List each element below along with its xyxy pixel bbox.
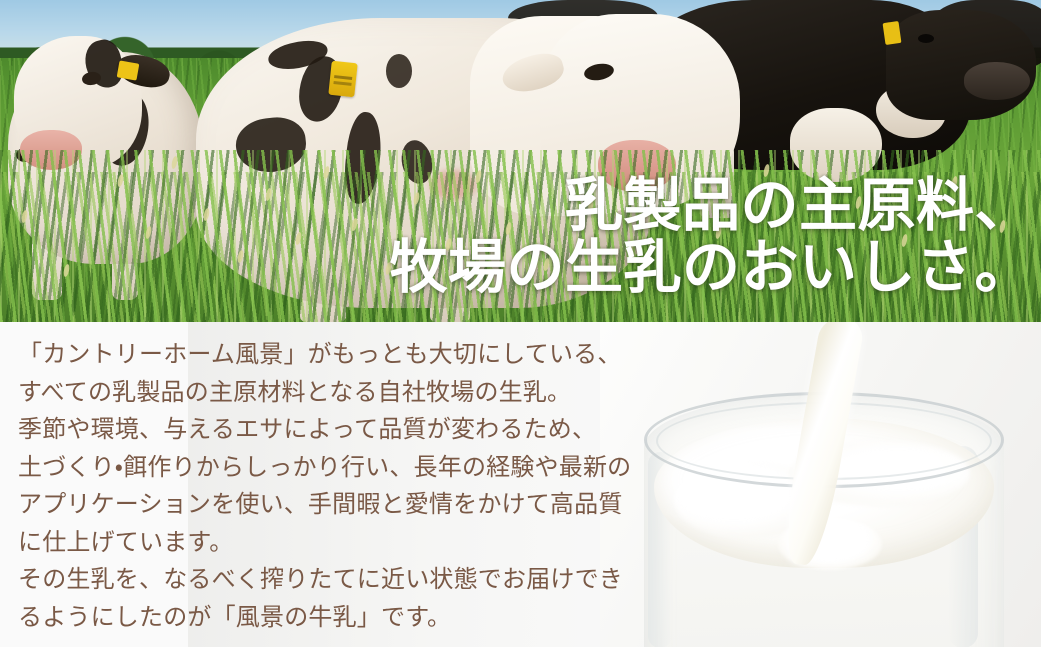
description-line: 「カントリーホーム風景」がもっとも大切にしている、: [18, 336, 638, 374]
description-section: 「カントリーホーム風景」がもっとも大切にしている、 すべての乳製品の主原材料とな…: [0, 322, 1041, 647]
cow-right-black-ear-tag: [883, 21, 902, 45]
description-line: 季節や環境、与えるエサによって品質が変わるため、: [18, 411, 638, 449]
description-line: その生乳を、なるべく搾りたてに近い状態でお届けでき: [18, 561, 638, 599]
headline-line-1: 乳製品の主原料、: [389, 176, 1033, 234]
description-text: 「カントリーホーム風景」がもっとも大切にしている、 すべての乳製品の主原材料とな…: [18, 336, 638, 636]
cow-right-black-eye: [918, 34, 934, 43]
description-line: アプリケーションを使い、手間暇と愛情をかけて高品質: [18, 486, 638, 524]
description-line: すべての乳製品の主原材料となる自社牧場の生乳。: [18, 374, 638, 412]
cow-center-patch-rump: [386, 54, 412, 88]
description-line: 土づくり・餌作りからしっかり行い、長年の経験や最新の: [18, 449, 638, 487]
description-line: るようにしたのが「風景の牛乳」です。: [18, 599, 638, 637]
page-root: 乳製品の主原料、 牧場の生乳のおいしさ。 「カントリーホーム風景」がもっとも大切…: [0, 0, 1041, 647]
description-line: に仕上げています。: [18, 524, 638, 562]
milk-pouring-into-glass: [600, 322, 1041, 647]
hero-photo: 乳製品の主原料、 牧場の生乳のおいしさ。: [0, 0, 1041, 322]
cow-right-black-muzzle: [964, 62, 1030, 100]
hero-headline: 乳製品の主原料、 牧場の生乳のおいしさ。: [389, 176, 1033, 296]
cow-left-white-ear-tag: [117, 60, 140, 80]
headline-line-2: 牧場の生乳のおいしさ。: [389, 238, 1033, 296]
cow-center-ear-tag: [328, 61, 357, 98]
